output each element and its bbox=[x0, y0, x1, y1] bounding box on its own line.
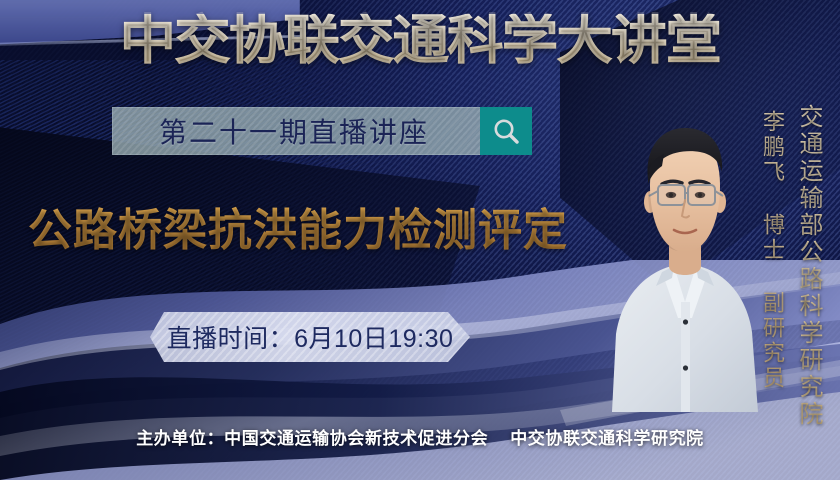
live-stream-poster: 中交协联交通科学大讲堂 第二十一期直播讲座 公路桥梁抗洪能力检测评定 直播时间：… bbox=[0, 0, 840, 480]
footer-organizers: 主办单位：中国交通运输协会新技术促进分会中交协联交通科学研究院 bbox=[0, 424, 840, 449]
live-time-badge: 直播时间：6月10日19:30 bbox=[150, 312, 470, 362]
search-button[interactable] bbox=[480, 107, 532, 155]
co-organizer-label: 中交协联交通科学研究院 bbox=[510, 429, 704, 448]
speaker-organization: 交通运输部公路科学研究院 bbox=[791, 104, 826, 428]
lecture-topic-title: 公路桥梁抗洪能力检测评定 bbox=[28, 206, 568, 257]
page-title: 中交协联交通科学大讲堂 bbox=[0, 14, 840, 67]
episode-banner: 第二十一期直播讲座 bbox=[112, 107, 532, 155]
live-time-text: 直播时间：6月10日19:30 bbox=[167, 319, 454, 355]
episode-label: 第二十一期直播讲座 bbox=[112, 107, 480, 155]
speaker-portrait bbox=[612, 106, 758, 412]
organizer-label: 主办单位：中国交通运输协会新技术促进分会 bbox=[136, 429, 488, 448]
speaker-name-title: 李鹏飞 博士 副研究员 bbox=[756, 110, 788, 391]
search-icon bbox=[491, 116, 521, 146]
